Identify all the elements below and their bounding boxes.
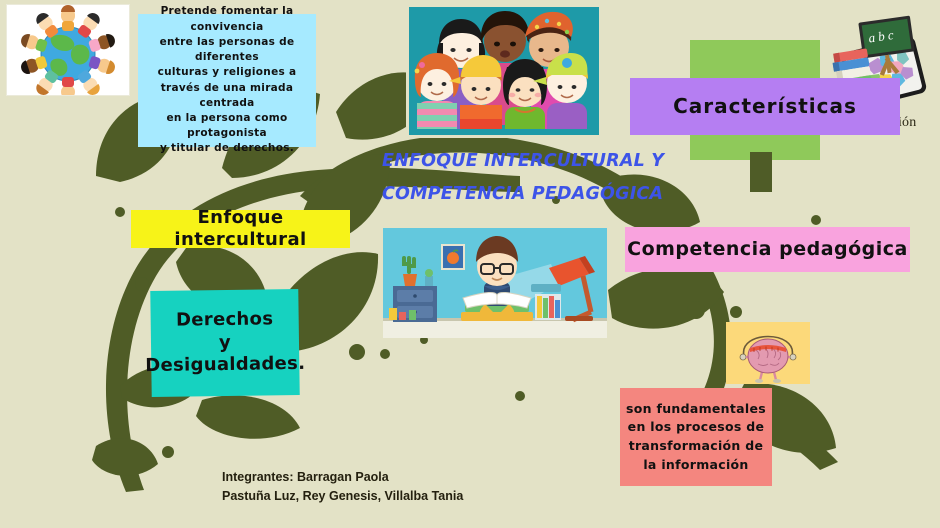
credits-line-2: Pastuña Luz, Rey Genesis, Villalba Tania: [222, 487, 552, 506]
credits-block: Integrantes: Barragan Paola Pastuña Luz,…: [222, 468, 552, 507]
fundamentales-line-1: son fundamentales: [626, 400, 766, 419]
enfoque-intercultural-label-box[interactable]: Enfoque intercultural: [131, 210, 350, 248]
diverse-children-illustration: [406, 4, 602, 138]
brain-jumping-rope-illustration: [726, 322, 810, 384]
fundamentales-text-box: son fundamentales en los procesos de tra…: [620, 388, 772, 486]
competencia-pedagogica-label: Competencia pedagógica: [627, 238, 908, 262]
title-line-2: COMPETENCIA PEDAGÓGICA: [382, 178, 640, 211]
caracteristicas-label: Características: [673, 94, 857, 119]
children-around-globe-illustration: [6, 4, 130, 96]
derechos-desigualdades-box[interactable]: Derechos y Desigualdades.: [150, 289, 299, 397]
title-line-1: ENFOQUE INTERCULTURAL Y: [382, 145, 640, 178]
intro-line-2: entre las personas de diferentes: [142, 35, 312, 65]
derechos-line-1: Derechos: [176, 309, 274, 333]
fundamentales-line-2: en los procesos de: [628, 418, 765, 437]
caracteristicas-label-box[interactable]: Características: [630, 78, 900, 135]
intro-line-3: culturas y religiones a: [158, 65, 297, 80]
credits-line-1: Integrantes: Barragan Paola: [222, 468, 552, 487]
page-title: ENFOQUE INTERCULTURAL Y COMPETENCIA PEDA…: [382, 145, 640, 212]
intro-line-1: Pretende fomentar la convivencia: [142, 4, 312, 34]
competencia-pedagogica-label-box[interactable]: Competencia pedagógica: [625, 227, 910, 272]
infographic-canvas: Pretende fomentar la convivencia entre l…: [0, 0, 940, 528]
intro-line-4: través de una mirada centrada: [142, 81, 312, 111]
intro-line-5: en la persona como protagonista: [142, 111, 312, 141]
intro-text-box: Pretende fomentar la convivencia entre l…: [138, 14, 316, 147]
fundamentales-line-3: transformación de: [629, 437, 764, 456]
fundamentales-line-4: la información: [643, 456, 748, 475]
derechos-line-3: Desigualdades.: [145, 353, 305, 378]
enfoque-intercultural-label: Enfoque intercultural: [131, 207, 350, 252]
intro-line-6: y titular de derechos.: [160, 141, 294, 156]
boy-reading-book-illustration: [383, 228, 607, 338]
derechos-line-2: y: [219, 332, 231, 355]
caracteristicas-stem: [750, 152, 772, 192]
